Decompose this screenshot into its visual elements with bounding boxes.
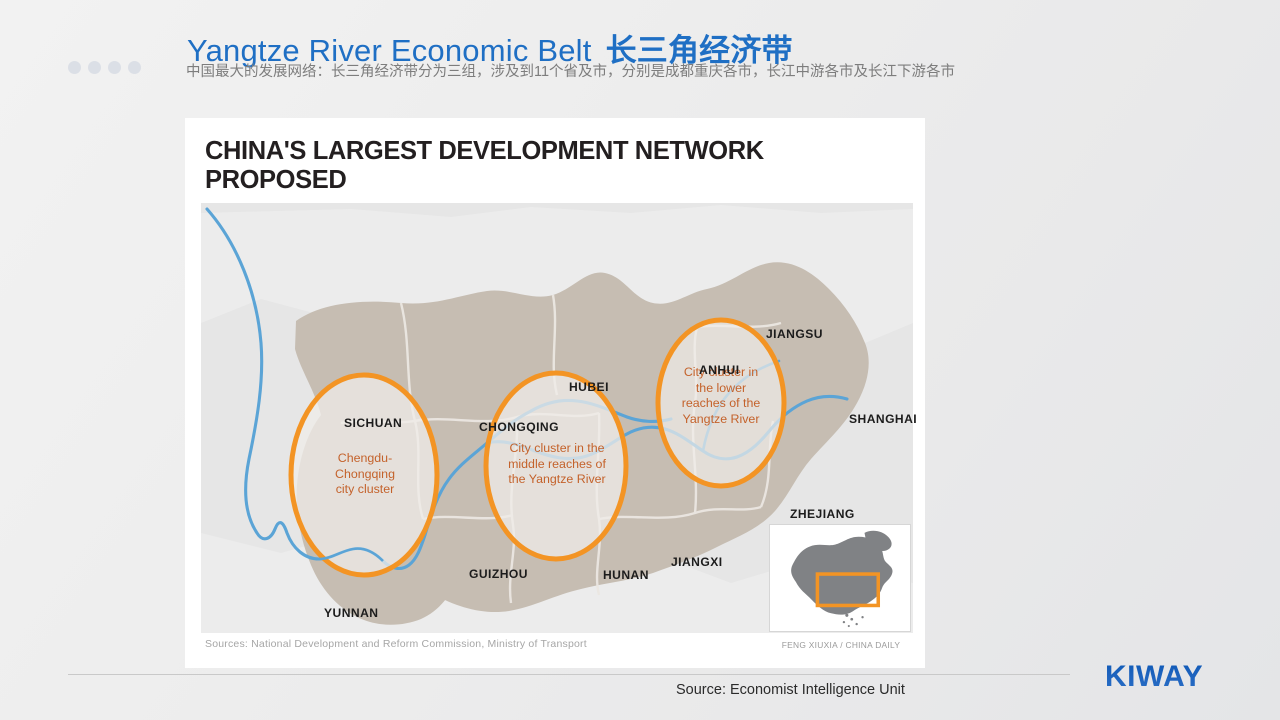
cluster-label-middle-reaches: City cluster in the middle reaches of th…	[489, 441, 625, 488]
province-label-shanghai: SHANGHAI	[849, 412, 917, 426]
province-label-yunnan: YUNNAN	[324, 606, 378, 620]
locator-inset-map	[769, 524, 911, 632]
province-label-guizhou: GUIZHOU	[469, 567, 528, 581]
figure-headline: CHINA'S LARGEST DEVELOPMENT NETWORK PROP…	[205, 137, 909, 195]
inset-china-svg	[770, 525, 908, 629]
cluster-label-line: City cluster in the	[489, 441, 625, 457]
figure-credit: FENG XIUXIA / CHINA DAILY	[771, 640, 911, 650]
province-label-hunan: HUNAN	[603, 568, 649, 582]
slide-decoration-dots	[68, 61, 141, 74]
figure-sources: Sources: National Development and Reform…	[205, 638, 587, 650]
footer-source: Source: Economist Intelligence Unit	[676, 682, 905, 698]
dot-4	[128, 61, 141, 74]
cluster-label-line: the lower	[657, 381, 785, 397]
cluster-label-line: city cluster	[309, 482, 421, 498]
cluster-label-chengdu-chongqing: Chengdu- Chongqing city cluster	[309, 451, 421, 498]
province-label-chongqing: CHONGQING	[479, 420, 559, 434]
dot-2	[88, 61, 101, 74]
cluster-label-line: reaches of the	[657, 396, 785, 412]
province-label-zhejiang: ZHEJIANG	[790, 507, 855, 521]
dot-1	[68, 61, 81, 74]
cluster-label-line: Chongqing	[309, 467, 421, 483]
province-label-sichuan: SICHUAN	[344, 416, 402, 430]
footer-divider	[68, 674, 1070, 675]
figure-panel: CHINA'S LARGEST DEVELOPMENT NETWORK PROP…	[185, 118, 925, 668]
page-subtitle: 中国最大的发展网络：长三角经济带分为三组，涉及到11个省及市，分别是成都重庆各市…	[186, 62, 1066, 82]
province-label-jiangsu: JIANGSU	[766, 327, 823, 341]
cluster-label-line: Chengdu-	[309, 451, 421, 467]
brand-logo: KIWAY	[1105, 660, 1203, 694]
province-label-hubei: HUBEI	[569, 380, 609, 394]
cluster-label-line: Yangtze River	[657, 412, 785, 428]
cluster-label-line: middle reaches of	[489, 457, 625, 473]
dot-3	[108, 61, 121, 74]
cluster-label-line: the Yangtze River	[489, 472, 625, 488]
province-label-jiangxi: JIANGXI	[671, 555, 723, 569]
province-label-anhui: ANHUI	[699, 363, 740, 377]
